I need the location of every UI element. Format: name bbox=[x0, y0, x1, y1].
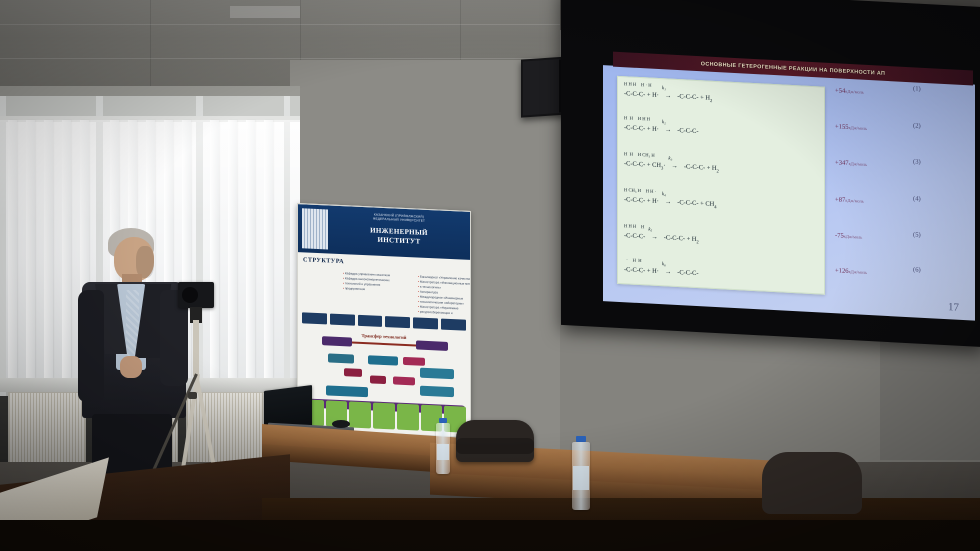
chip bbox=[413, 317, 438, 329]
foreground-shadow bbox=[0, 520, 980, 551]
equation-number: (5) bbox=[913, 231, 921, 238]
enthalpy-value: +87кДж/моль bbox=[835, 196, 864, 205]
water-bottle[interactable] bbox=[436, 418, 450, 474]
equation-row: H CH₃ H H H · -C-C-C- + H·k₄→-C-C-C- + C… bbox=[624, 187, 820, 215]
list-item: ресурсосберегающие и bbox=[418, 309, 471, 318]
flow-node bbox=[420, 386, 454, 398]
flow-green-node bbox=[373, 403, 395, 430]
bottle-label bbox=[573, 466, 589, 490]
flow-node bbox=[344, 368, 362, 377]
chip bbox=[358, 315, 383, 327]
flow-connector bbox=[352, 342, 416, 347]
lecture-room-photo: ОСНОВНЫЕ ГЕТЕРОГЕННЫЕ РЕАКЦИИ НА ПОВЕРХН… bbox=[0, 0, 980, 551]
bottle-label bbox=[437, 444, 449, 460]
chip bbox=[330, 314, 355, 326]
water-bottle[interactable] bbox=[572, 436, 590, 510]
equation-number: (1) bbox=[913, 85, 921, 92]
equation-number: (3) bbox=[913, 158, 921, 165]
equation-row: H H H H · H -C-C-C- + H·k₁→-C-C-C- + H2 bbox=[624, 81, 820, 109]
equation-number: (6) bbox=[913, 266, 921, 273]
enthalpy-value: +54кДж/моль bbox=[835, 87, 864, 96]
poster-header: КАЗАНСКИЙ (ПРИВОЛЖСКИЙ) ФЕДЕРАЛЬНЫЙ УНИВ… bbox=[298, 204, 470, 260]
enthalpy-value: +347кДж/моль bbox=[835, 159, 867, 168]
poster-university-name: КАЗАНСКИЙ (ПРИВОЛЖСКИЙ) ФЕДЕРАЛЬНЫЙ УНИВ… bbox=[332, 211, 466, 226]
enthalpy-value: +126кДж/моль bbox=[835, 267, 867, 276]
laptop-mouse[interactable] bbox=[332, 420, 350, 428]
slide-number: 17 bbox=[948, 301, 959, 314]
tripod-column bbox=[193, 320, 199, 376]
presenter-arm-left bbox=[78, 290, 104, 402]
flow-node bbox=[420, 368, 454, 380]
poster-section-title: СТРУКТУРА bbox=[303, 256, 344, 265]
chip bbox=[302, 312, 327, 324]
equation-number: (2) bbox=[913, 122, 921, 129]
equation-row: H H H H H -C-C-C- + H·k₂→-C-C-C- bbox=[624, 115, 820, 141]
flow-node bbox=[328, 353, 354, 363]
flow-node bbox=[403, 357, 425, 366]
flow-node bbox=[368, 355, 398, 365]
flow-green-node bbox=[397, 404, 419, 431]
flow-node bbox=[393, 376, 415, 385]
enthalpy-value: +155кДж/моль bbox=[835, 123, 867, 132]
flow-node bbox=[322, 336, 352, 346]
enthalpy-value: -75кДж/моль bbox=[835, 232, 862, 240]
presenter-hand bbox=[120, 356, 142, 378]
projected-slide: ОСНОВНЫЕ ГЕТЕРОГЕННЫЕ РЕАКЦИИ НА ПОВЕРХН… bbox=[603, 65, 975, 320]
camera-lens-icon bbox=[182, 287, 198, 303]
equation-row: H H H H -C-C-C-k₅→-C-C-C- + H2 bbox=[624, 223, 820, 251]
equation-row: · H H -C-C-C- + H·k₆→-C-C-C- bbox=[624, 257, 820, 283]
chemical-equations-box: H H H H · H -C-C-C- + H·k₁→-C-C-C- + H2 … bbox=[617, 76, 825, 295]
projector-screen: ОСНОВНЫЕ ГЕТЕРОГЕННЫЕ РЕАКЦИИ НА ПОВЕРХН… bbox=[561, 0, 980, 347]
columns-graphic bbox=[302, 208, 328, 249]
equation-row: H H H CH₃ H -C-C-C- + CH3·k₃→-C-C-C- + H… bbox=[624, 151, 820, 179]
flow-node bbox=[370, 375, 386, 384]
poster-institute-name: ИНЖЕНЕРНЫЙ ИНСТИТУТ bbox=[332, 225, 466, 249]
chip bbox=[385, 316, 410, 328]
chair-shadow bbox=[456, 438, 534, 454]
flow-node bbox=[416, 340, 448, 350]
chip bbox=[441, 319, 466, 331]
office-chair[interactable] bbox=[762, 452, 862, 514]
equation-number: (4) bbox=[913, 195, 921, 202]
poster-bullets-right: Бакалавриат «Управление качеством» Магис… bbox=[378, 273, 471, 318]
tripod-knob[interactable] bbox=[188, 392, 197, 399]
